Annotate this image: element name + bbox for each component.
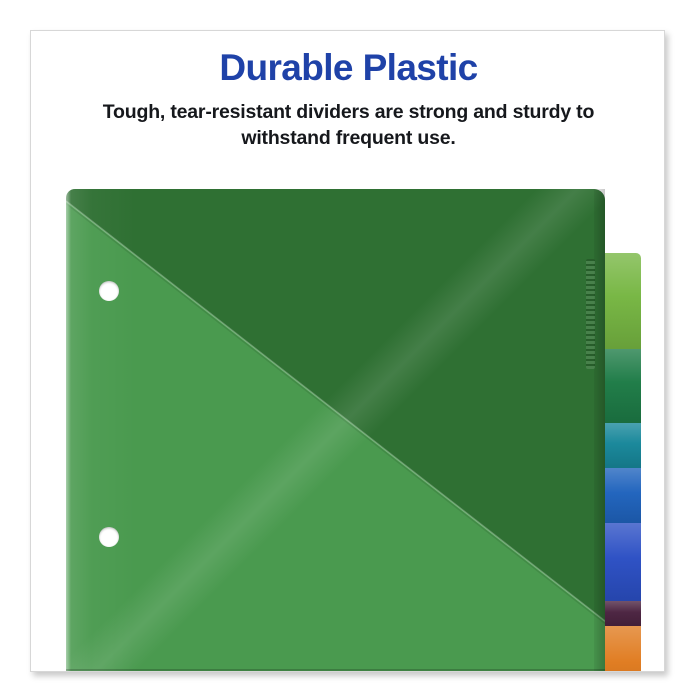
top-punch-hole [99,281,119,301]
ribbed-grip-strip [586,259,595,369]
divider-sheet [66,189,605,672]
diagonal-pocket-panel [66,189,605,672]
screenshot-stage: Durable Plastic Tough, tear-resistant di… [0,0,700,700]
bottom-punch-hole [99,527,119,547]
sheet-bottom-shadow [66,669,605,672]
sheet-right-edge-shading [594,189,605,672]
product-card: Durable Plastic Tough, tear-resistant di… [30,30,665,672]
sheet-left-edge-highlight [66,189,71,672]
product-image [31,31,665,672]
